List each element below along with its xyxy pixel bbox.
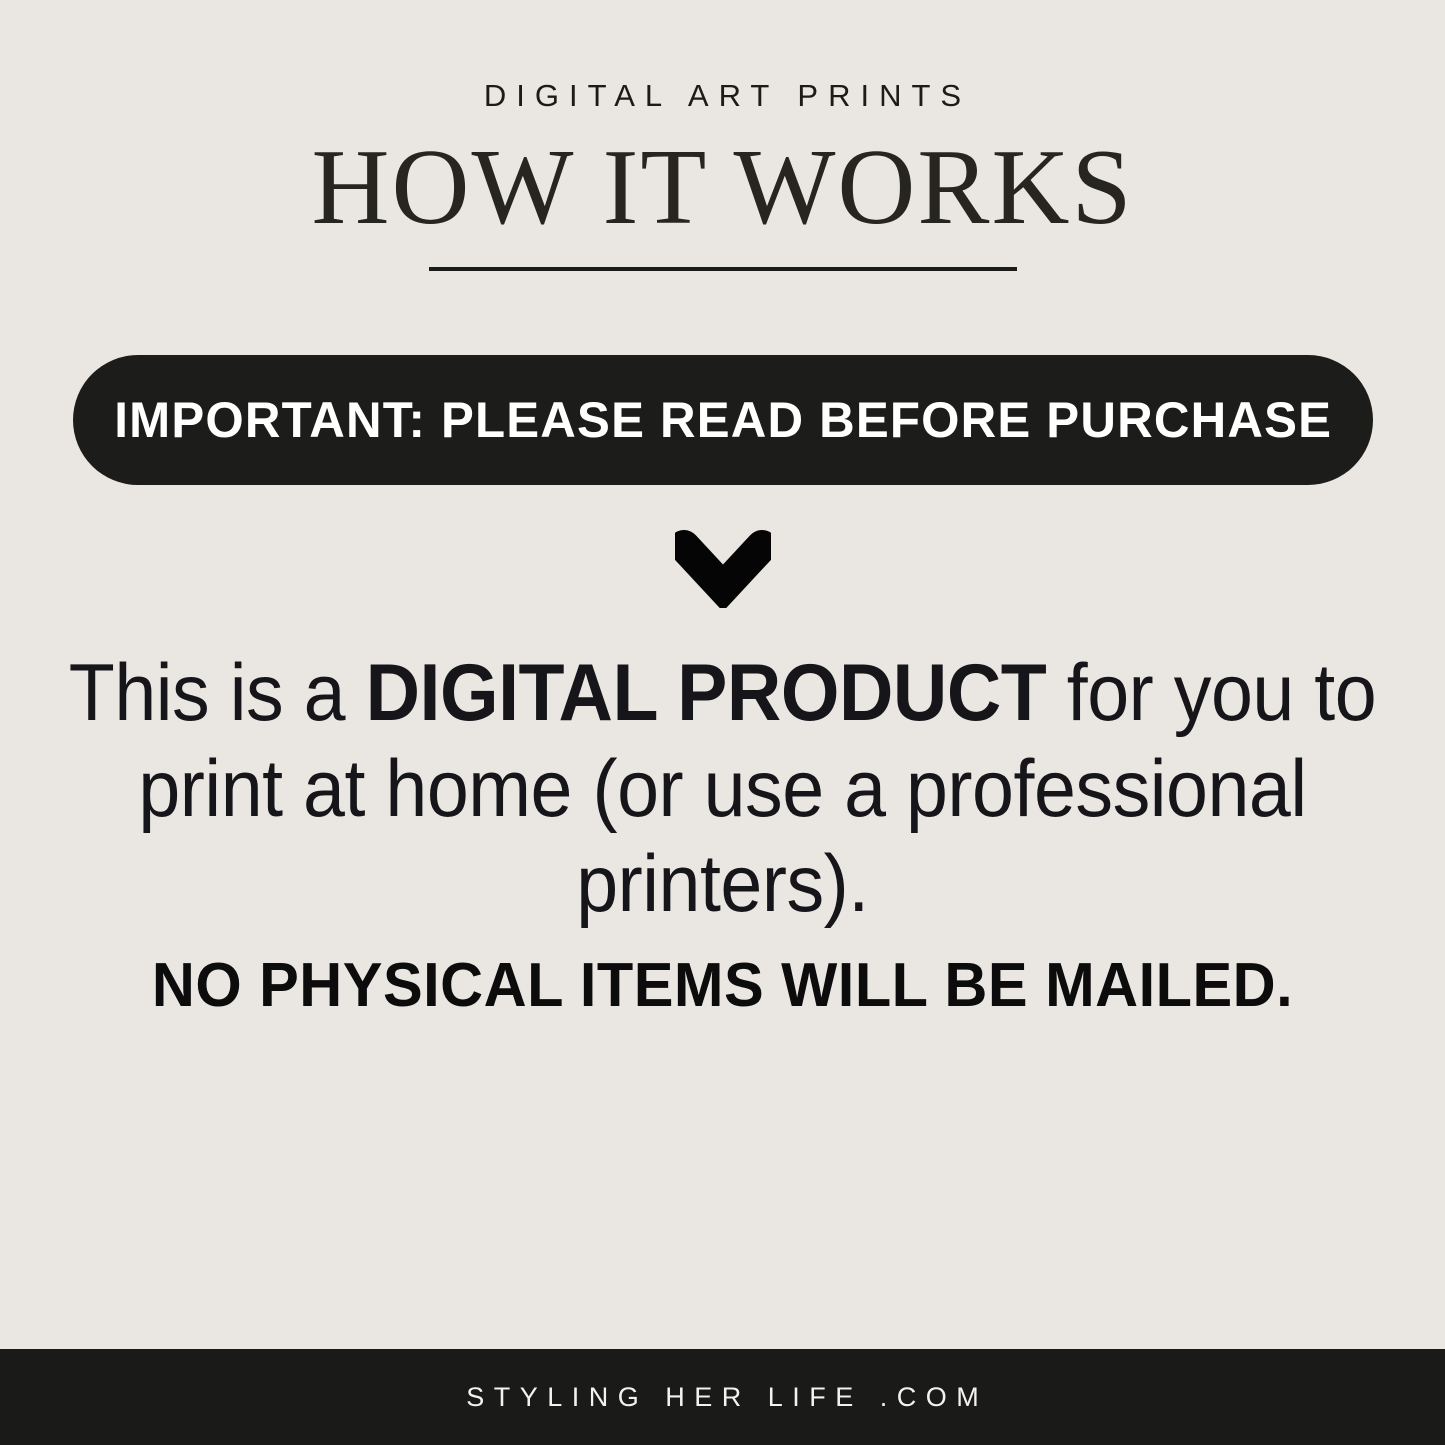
how-it-works-poster: DIGITAL ART PRINTS HOW IT WORKS IMPORTAN… bbox=[0, 0, 1445, 1445]
body-copy: This is a DIGITAL PRODUCT for you to pri… bbox=[0, 646, 1445, 933]
body-line-1-emphasis: DIGITAL PRODUCT bbox=[366, 648, 1047, 738]
footer-website-label: STYLING HER LIFE .COM bbox=[457, 1384, 989, 1411]
title-divider bbox=[429, 267, 1017, 271]
body-line-3: printers). bbox=[51, 837, 1395, 933]
important-notice-label: IMPORTANT: PLEASE READ BEFORE PURCHASE bbox=[114, 395, 1332, 445]
body-line-1-text-before: This is a bbox=[69, 648, 366, 738]
page-title: HOW IT WORKS bbox=[0, 131, 1445, 245]
body-line-2: print at home (or use a professional bbox=[51, 742, 1395, 838]
chevron-down-icon bbox=[675, 530, 771, 608]
chevron-down-wrap bbox=[0, 530, 1445, 608]
eyebrow-label: DIGITAL ART PRINTS bbox=[0, 80, 1445, 111]
title-divider-wrap bbox=[0, 267, 1445, 271]
no-physical-items-statement: NO PHYSICAL ITEMS WILL BE MAILED. bbox=[29, 955, 1416, 1017]
footer-bar: STYLING HER LIFE .COM bbox=[0, 1349, 1445, 1445]
important-notice-banner: IMPORTANT: PLEASE READ BEFORE PURCHASE bbox=[73, 355, 1373, 485]
body-line-1: This is a DIGITAL PRODUCT for you to bbox=[51, 646, 1395, 742]
body-line-1-text-after: for you to bbox=[1046, 648, 1376, 738]
header: DIGITAL ART PRINTS HOW IT WORKS bbox=[0, 0, 1445, 271]
